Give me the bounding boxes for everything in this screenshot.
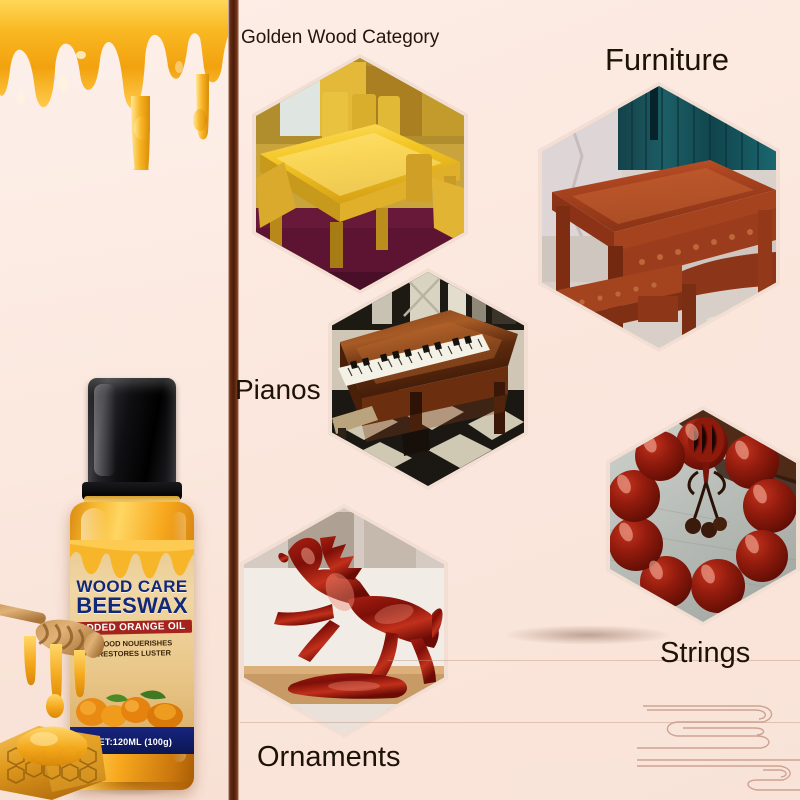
category-label-furniture: Furniture xyxy=(605,42,729,78)
drop-shadow xyxy=(503,625,673,645)
label-honey-drip-icon xyxy=(70,540,194,580)
hexagon-photo-icon-piano xyxy=(332,272,524,486)
page-title: Golden Wood Category xyxy=(241,27,439,49)
hexagon-photo-icon-beads xyxy=(610,410,796,622)
category-label-strings: Strings xyxy=(660,637,750,670)
product-panel: WOOD CARE BEESWAX ADDED ORANGE OIL • WOO… xyxy=(0,0,232,800)
honey-drip-icon xyxy=(0,0,232,170)
honey-dipper-icon xyxy=(0,594,126,800)
hexagon-photo-icon-golden-table xyxy=(256,58,464,290)
black-flip-cap-icon xyxy=(88,378,176,490)
product-marketing-image: WOOD CARE BEESWAX ADDED ORANGE OIL • WOO… xyxy=(0,0,800,800)
hexagon-photo-icon-ornament xyxy=(244,508,444,734)
chinese-cloud-lines-icon xyxy=(637,684,800,800)
category-panel: Golden Wood Category xyxy=(239,0,800,800)
category-label-ornaments: Ornaments xyxy=(257,741,400,774)
category-label-pianos: Pianos xyxy=(235,374,321,406)
hexagon-photo-icon-furniture xyxy=(542,86,776,348)
